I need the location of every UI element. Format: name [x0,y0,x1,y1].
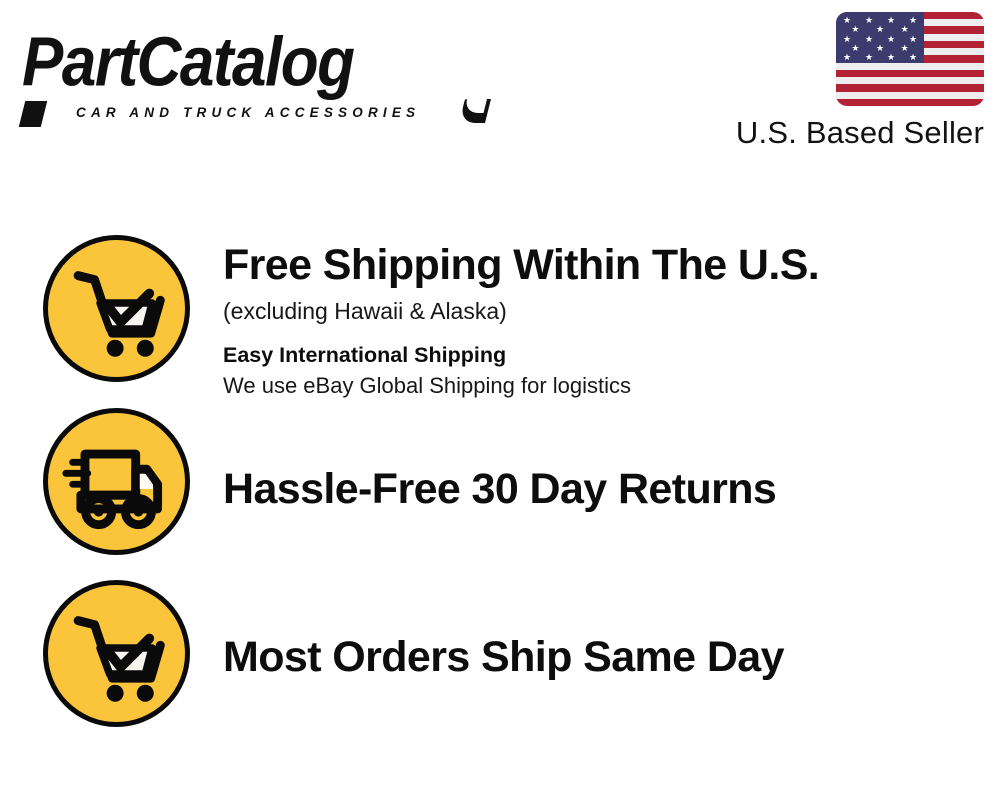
feature-list: Free Shipping Within The U.S. (excluding… [0,235,1000,750]
page-header: PartCatalog CAR AND TRUCK ACCESSORIES ★★… [0,0,1000,175]
feature-row: Hassle-Free 30 Day Returns [0,407,1000,578]
brand-wordmark: PartCatalog [22,26,492,100]
brand-tagline: CAR AND TRUCK ACCESSORIES [76,105,420,120]
us-flag-icon: ★★★★ ★★★ ★★★★ ★★★ ★★★★ [836,12,984,106]
feature-headline: Hassle-Free 30 Day Returns [223,465,1000,513]
feature-text-block: Most Orders Ship Same Day [223,578,1000,681]
feature-headline: Free Shipping Within The U.S. [223,241,1000,289]
feature-subhead: Easy International Shipping [223,341,1000,369]
feature-row: Free Shipping Within The U.S. (excluding… [0,235,1000,407]
feature-subline: (excluding Hawaii & Alaska) [223,296,1000,327]
feature-text-block: Free Shipping Within The U.S. (excluding… [223,235,1000,401]
delivery-truck-icon [43,408,190,555]
feature-row: Most Orders Ship Same Day [0,578,1000,750]
feature-text-block: Hassle-Free 30 Day Returns [223,407,1000,513]
brand-tagline-row: CAR AND TRUCK ACCESSORIES [22,105,484,125]
shopping-cart-check-icon [43,580,190,727]
logo-swash-right-icon [459,99,491,123]
brand-logo[interactable]: PartCatalog CAR AND TRUCK ACCESSORIES [22,26,492,125]
feature-headline: Most Orders Ship Same Day [223,633,1000,681]
flag-canton: ★★★★ ★★★ ★★★★ ★★★ ★★★★ [836,12,924,63]
shopping-cart-check-icon [43,235,190,382]
feature-subnote: We use eBay Global Shipping for logistic… [223,371,1000,401]
us-based-seller-label: U.S. Based Seller [714,115,984,151]
us-based-seller-badge: ★★★★ ★★★ ★★★★ ★★★ ★★★★ U.S. Based Seller [714,12,984,151]
logo-swash-left-icon [19,101,47,127]
